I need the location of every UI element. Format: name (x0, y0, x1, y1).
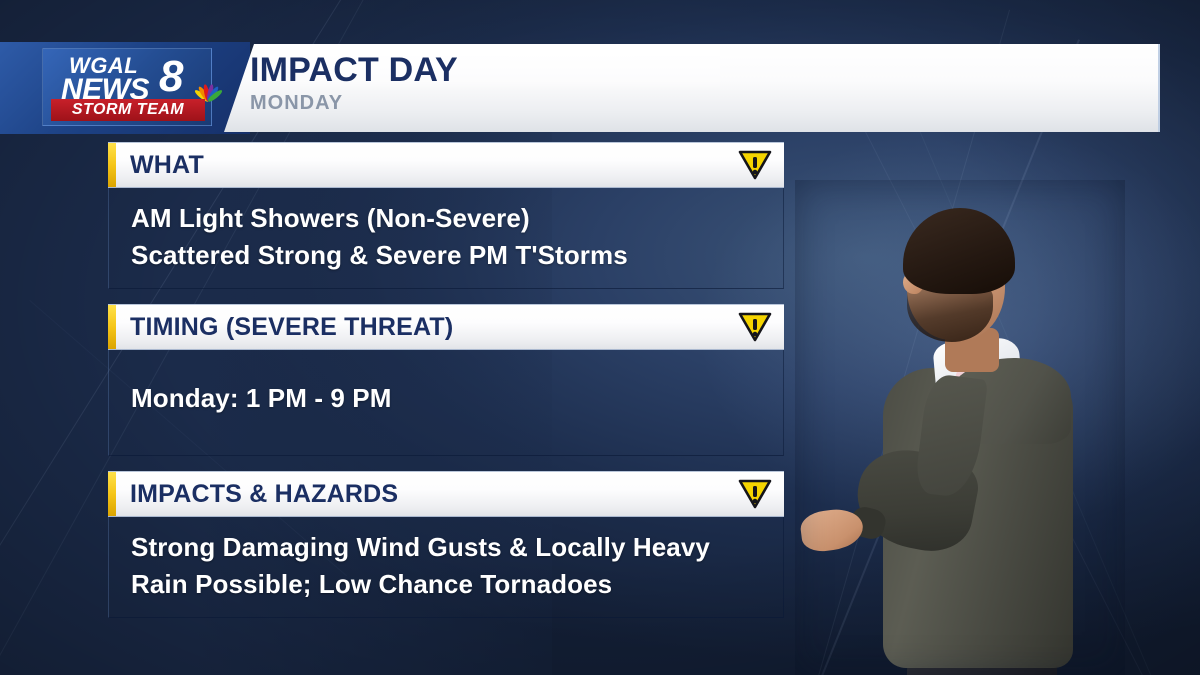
panel-body: AM Light Showers (Non-Severe) Scattered … (108, 188, 784, 289)
panel-what: WHAT AM Light Showers (Non-Severe) Scatt… (108, 142, 784, 289)
panel-impacts-hazards: IMPACTS & HAZARDS Strong Damaging Wind G… (108, 471, 784, 618)
page-title: IMPACT DAY (250, 50, 458, 90)
panel-line: Monday: 1 PM - 9 PM (131, 380, 783, 417)
warning-triangle-icon (738, 479, 772, 509)
panel-accent-bar (108, 305, 116, 349)
panel-header: TIMING (SEVERE THREAT) (108, 304, 784, 350)
storm-team-label: STORM TEAM (72, 101, 184, 119)
panel-body: Monday: 1 PM - 9 PM (108, 350, 784, 456)
panel-body: Strong Damaging Wind Gusts & Locally Hea… (108, 517, 784, 618)
storm-team-banner: STORM TEAM (51, 99, 205, 121)
impact-panels: WHAT AM Light Showers (Non-Severe) Scatt… (108, 142, 784, 633)
panel-heading: WHAT (130, 151, 204, 180)
banner-text-group: IMPACT DAY MONDAY (250, 50, 458, 115)
panel-line: Strong Damaging Wind Gusts & Locally Hea… (131, 529, 783, 566)
logo-wordmark: WGAL NEWS 8 (61, 53, 211, 79)
panel-accent-bar (108, 143, 116, 187)
panel-accent-bar (108, 472, 116, 516)
panel-timing: TIMING (SEVERE THREAT) Monday: 1 PM - 9 … (108, 304, 784, 456)
panel-heading: TIMING (SEVERE THREAT) (130, 313, 453, 342)
panel-line: Rain Possible; Low Chance Tornadoes (131, 566, 783, 603)
talent-hair (903, 208, 1015, 294)
panel-heading: IMPACTS & HAZARDS (130, 480, 398, 509)
nbc-peacock-icon (195, 79, 221, 101)
panel-line: Scattered Strong & Severe PM T'Storms (131, 237, 783, 274)
wgal-news8-storm-team-logo: WGAL NEWS 8 STORM TEAM (42, 48, 212, 126)
panel-header: IMPACTS & HAZARDS (108, 471, 784, 517)
page-subtitle: MONDAY (250, 91, 458, 115)
meteorologist (795, 180, 1125, 675)
warning-triangle-icon (738, 312, 772, 342)
panel-header: WHAT (108, 142, 784, 188)
panel-line: AM Light Showers (Non-Severe) (131, 200, 783, 237)
logo-channel-number: 8 (159, 55, 183, 99)
warning-triangle-icon (738, 150, 772, 180)
